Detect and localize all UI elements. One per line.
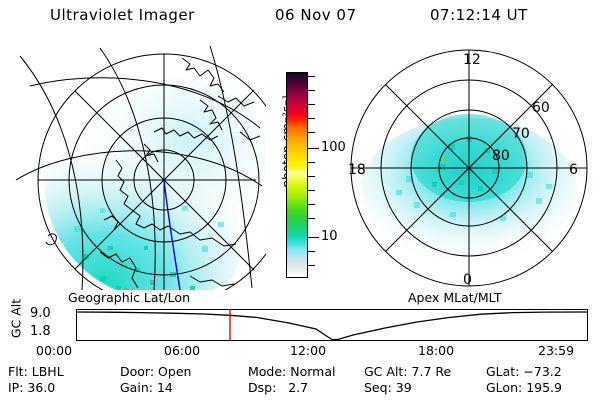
status-seq: Seq: 39 [364,380,412,395]
status-ip: IP: 36.0 [8,380,55,395]
status-gc-alt: GC Alt: 7.7 Re [364,364,451,379]
xtick-1800: 18:00 [418,343,454,358]
xtick-0000: 00:00 [36,343,72,358]
xtick-0600: 06:00 [164,343,200,358]
status-glat: GLat: −73.2 [486,364,562,379]
mlat-label-80: 80 [492,148,510,164]
profile-x-axis-labels: 00:00 06:00 12:00 18:00 23:59 [0,343,600,361]
status-flt: Flt: LBHL [8,364,64,379]
mlat-label-70: 70 [512,126,530,142]
altitude-profile-curve [76,312,587,340]
colorbar-group: photon cm⁻²s⁻¹ 100 10 [268,60,340,290]
auroral-emission-geographic [6,78,266,290]
mlt-label-0: 0 [463,272,472,288]
instrument-title: Ultraviolet Imager [50,6,195,24]
profile-y-axis-label: GC Alt [9,289,24,349]
profile-ytick-bottom: 1.8 [30,324,51,339]
profile-plot-area[interactable] [76,309,588,341]
xtick-1200: 12:00 [290,343,326,358]
colorbar-tick-label-10: 10 [321,230,338,243]
profile-svg [76,309,588,341]
header-bar: Ultraviolet Imager 06 Nov 07 07:12:14 UT [0,6,600,32]
mlat-label-60: 60 [532,100,550,116]
status-gain: Gain: 14 [120,380,173,395]
orbit-altitude-profile[interactable]: GC Alt 9.0 1.8 00:00 06:00 12:00 18:00 2… [0,303,600,355]
observation-time: 07:12:14 UT [430,6,528,24]
mlt-label-18: 18 [348,162,366,178]
xtick-2359: 23:59 [538,343,574,358]
apex-mlt-dial-panel[interactable]: 12 6 0 18 60 70 80 [340,40,598,290]
profile-frame [77,310,588,341]
observation-date: 06 Nov 07 [275,6,357,24]
geographic-image-panel[interactable] [4,40,266,290]
mlt-label-6: 6 [569,162,578,178]
profile-ytick-top: 9.0 [30,306,51,321]
geographic-plot-svg [4,40,266,290]
colorbar-gradient [286,72,308,278]
status-door: Door: Open [120,364,191,379]
apex-plot-svg: 12 6 0 18 60 70 80 [340,40,598,290]
status-glon: GLon: 195.9 [486,380,562,395]
status-dsp: Dsp: 2.7 [248,380,308,395]
mlt-label-12: 12 [463,52,481,68]
status-footer: Flt: LBHL Door: Open Mode: Normal GC Alt… [0,364,600,398]
apex-dial-grid [351,50,587,286]
status-mode: Mode: Normal [248,364,336,379]
